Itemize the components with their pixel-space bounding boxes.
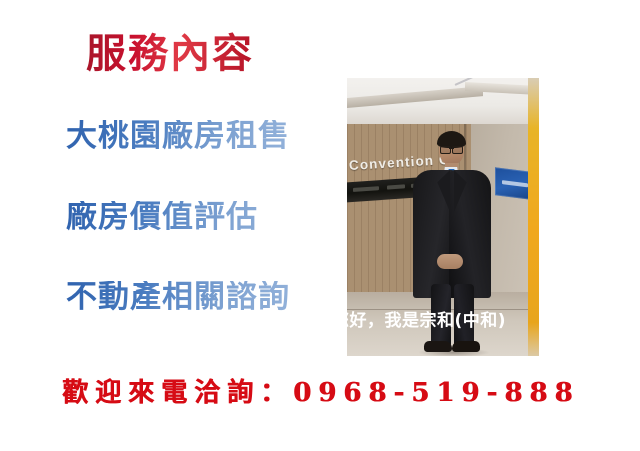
shoe-right: [452, 341, 480, 352]
yellow-edge-strip: [528, 78, 539, 356]
contact-phone-line: 歡迎來電洽詢：0968-519-888: [62, 372, 580, 409]
counter-slot: [387, 184, 405, 189]
counter-slot: [353, 186, 379, 192]
page-title: 服務內容: [86, 32, 254, 76]
glasses-icon: [440, 146, 463, 152]
shoe-left: [424, 341, 452, 352]
clasped-hands: [437, 254, 463, 269]
slide-canvas: 服務內容 大桃園廠房租售 廠房價值評估 不動產相關諮詢 Convention C…: [0, 0, 640, 451]
service-item-rental: 大桃園廠房租售: [66, 120, 326, 153]
glasses-lens-right: [452, 146, 463, 154]
service-item-consulting: 不動產相關諮詢: [66, 281, 326, 314]
service-list: 大桃園廠房租售 廠房價值評估 不動產相關諮詢: [66, 120, 326, 314]
photo-caption: 您好，我是宗和(中和): [332, 306, 506, 331]
service-item-valuation: 廠房價值評估: [66, 201, 326, 234]
